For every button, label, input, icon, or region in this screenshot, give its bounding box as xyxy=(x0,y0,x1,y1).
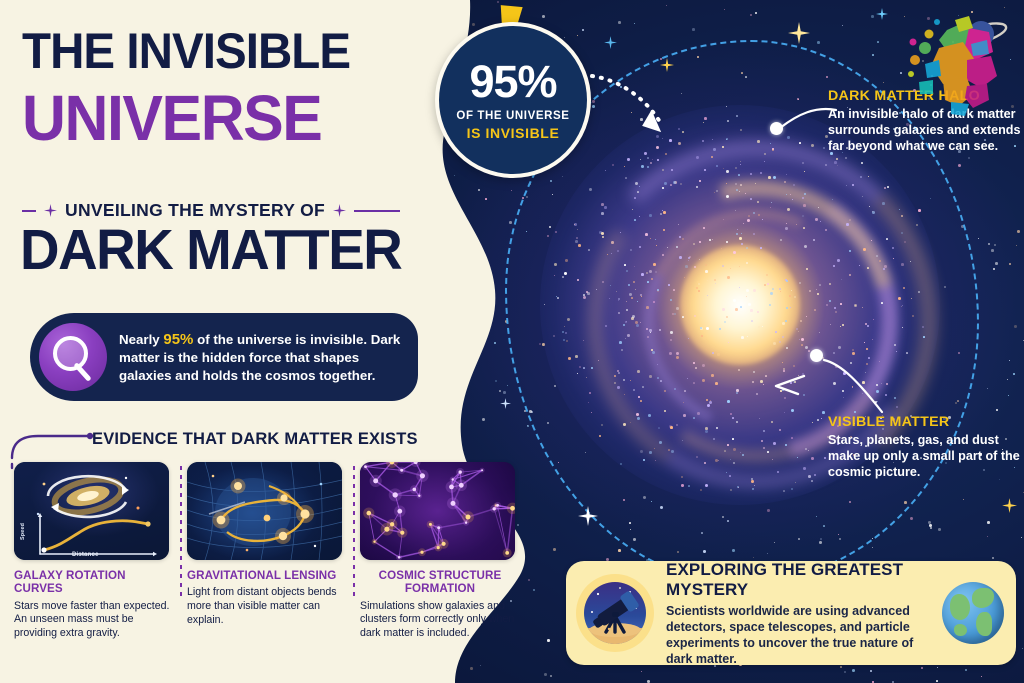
infographic-root: DARK MATTER HALO An invisible halo of da… xyxy=(0,0,1024,683)
visible-matter-anchor-dot xyxy=(810,349,823,362)
intro-lead: Nearly xyxy=(119,332,163,347)
telescope-icon xyxy=(576,574,654,652)
intro-callout: Nearly 95% of the universe is invisible.… xyxy=(30,313,418,401)
visible-matter-leader-line xyxy=(820,354,890,418)
sparkle-star-icon xyxy=(500,398,511,409)
chart-y-axis-label: Speed xyxy=(20,523,26,540)
subtitle-rule-left xyxy=(22,210,36,212)
evidence-card-body: Light from distant objects bends more th… xyxy=(187,586,347,627)
dark-matter-anchor-dot xyxy=(770,122,783,135)
cosmic-web-thumb xyxy=(360,462,515,560)
gravitational-lensing-thumb xyxy=(187,462,342,560)
intro-highlight: 95% xyxy=(163,331,193,348)
evidence-card[interactable]: Speed Distance GALAXY ROTATION CURVES St… xyxy=(14,462,174,641)
callout-visible-matter: VISIBLE MATTER Stars, planets, gas, and … xyxy=(828,414,1024,481)
sparkle-star-icon xyxy=(1002,498,1017,513)
polygonal-head-logo xyxy=(903,8,1019,116)
banner-body: Scientists worldwide are using advanced … xyxy=(666,603,938,667)
subtitle-rule-right xyxy=(354,210,400,212)
callout-title: VISIBLE MATTER xyxy=(828,414,1024,430)
sparkle-star-icon xyxy=(604,36,617,49)
bottom-banner: EXPLORING THE GREATEST MYSTERY Scientist… xyxy=(566,561,1016,665)
magnifier-icon xyxy=(39,323,107,391)
badge-percent: 95% xyxy=(469,59,556,104)
evidence-card-title: GRAVITATIONAL LENSING xyxy=(187,569,347,582)
intro-text: Nearly 95% of the universe is invisible.… xyxy=(119,330,404,384)
evidence-card-list: Speed Distance GALAXY ROTATION CURVES St… xyxy=(14,462,524,641)
card-divider xyxy=(347,462,360,641)
page-title-line3: DARK MATTER xyxy=(20,222,442,279)
evidence-card-body: Stars move faster than expected. An unse… xyxy=(14,600,174,641)
magnifier-lens xyxy=(53,336,88,371)
badge-emphasis: IS INVISIBLE xyxy=(467,125,560,141)
evidence-card[interactable]: GRAVITATIONAL LENSING Light from distant… xyxy=(187,462,347,641)
banner-text: EXPLORING THE GREATEST MYSTERY Scientist… xyxy=(666,560,938,667)
evidence-card-title: COSMIC STRUCTURE FORMATION xyxy=(360,569,520,596)
evidence-heading: EVIDENCE THAT DARK MATTER EXISTS xyxy=(92,430,418,449)
galaxy-core xyxy=(680,245,800,365)
callout-body: Stars, planets, gas, and dust make up on… xyxy=(828,433,1024,481)
page-title-line2: UNIVERSE xyxy=(22,88,431,149)
sparkle-star-icon xyxy=(876,8,888,20)
page-title-line1: THE INVISIBLE xyxy=(22,28,421,76)
chart-x-axis-label: Distance xyxy=(72,552,99,558)
badge-subtitle: OF THE UNIVERSE xyxy=(456,110,569,122)
galaxy-rotation-curve-thumb: Speed Distance xyxy=(14,462,169,560)
earth-globe-icon xyxy=(942,582,1004,644)
card-divider xyxy=(174,462,187,641)
statistic-badge: 95% OF THE UNIVERSE IS INVISIBLE xyxy=(435,22,591,178)
evidence-card-title: GALAXY ROTATION CURVES xyxy=(14,569,174,596)
evidence-card-body: Simulations show galaxies and clusters f… xyxy=(360,600,520,641)
sparkle-star-icon xyxy=(44,204,57,217)
evidence-card[interactable]: COSMIC STRUCTURE FORMATION Simulations s… xyxy=(360,462,520,641)
sparkle-star-icon xyxy=(578,506,598,526)
badge-pointer-arrow-icon xyxy=(590,70,690,140)
visible-matter-arrowhead-icon xyxy=(768,370,808,400)
sparkle-star-icon xyxy=(788,22,810,44)
banner-title: EXPLORING THE GREATEST MYSTERY xyxy=(666,560,938,600)
sparkle-star-icon xyxy=(333,204,346,217)
